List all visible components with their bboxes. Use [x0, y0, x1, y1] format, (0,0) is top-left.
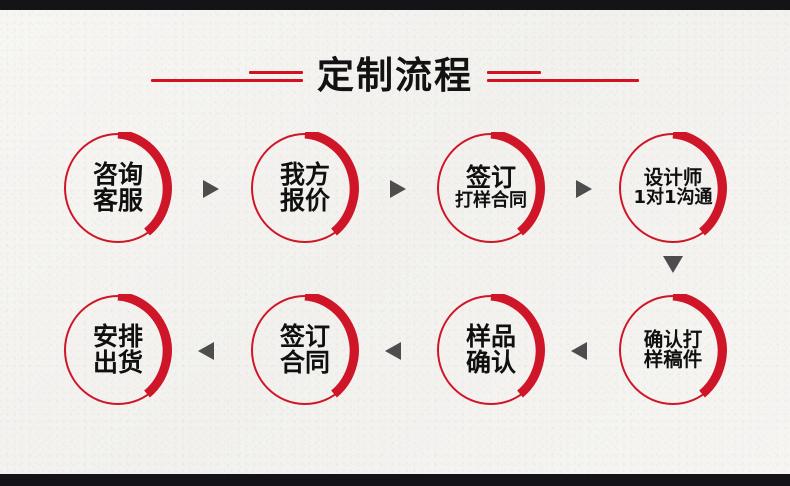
label-line-2: 出货: [93, 350, 143, 376]
label-line-1: 咨询: [93, 162, 143, 188]
flow-node-label: 我方 报价: [280, 162, 330, 215]
flow-row-bottom: 安排 出货 签订 合同 样品 确认: [0, 295, 790, 413]
label-line-1: 安排: [93, 324, 143, 350]
label-line-2: 确认: [466, 350, 516, 376]
poster-canvas: 定制流程 咨询 客服 我方 报价: [0, 0, 790, 486]
label-line-1: 确认打: [644, 330, 703, 350]
arrow-right-icon-2: [390, 180, 406, 198]
arrow-left-icon-1: [198, 342, 214, 360]
flow-node-step-8[interactable]: 安排 出货: [64, 295, 172, 405]
arrow-right-icon-3: [576, 180, 592, 198]
arrow-left-icon-3: [571, 342, 587, 360]
flow-node-label: 安排 出货: [93, 324, 143, 377]
label-line-2: 1对1沟通: [633, 189, 712, 208]
flow-node-step-3[interactable]: 签订 打样合同: [437, 133, 545, 243]
page-title: 定制流程: [317, 57, 473, 94]
label-line-2: 客服: [93, 188, 143, 214]
label-line-1: 设计师: [633, 168, 712, 188]
label-line-2: 合同: [280, 350, 330, 376]
flow-node-label: 签订 合同: [280, 324, 330, 377]
flow-node-step-5[interactable]: 确认打 样稿件: [619, 295, 727, 405]
top-edge-band: [0, 0, 790, 10]
flow-node-label: 设计师 1对1沟通: [633, 168, 712, 207]
flow-node-label: 确认打 样稿件: [644, 330, 703, 371]
arrow-right-icon-1: [203, 180, 219, 198]
label-line-2: 样稿件: [644, 350, 703, 370]
label-line-1: 我方: [280, 162, 330, 188]
title-rule-left-icon: [151, 62, 303, 88]
flow-node-step-1[interactable]: 咨询 客服: [64, 133, 172, 243]
flow-node-label: 签订 打样合同: [455, 165, 527, 210]
arrow-down-icon: [663, 256, 683, 273]
section-header: 定制流程: [0, 44, 790, 106]
label-line-2: 报价: [280, 188, 330, 214]
label-line-1: 样品: [466, 324, 516, 350]
flow-node-step-4[interactable]: 设计师 1对1沟通: [619, 133, 727, 243]
flow-row-top: 咨询 客服 我方 报价 签订 打样合同: [0, 133, 790, 251]
flow-node-step-2[interactable]: 我方 报价: [251, 133, 359, 243]
flow-node-step-7[interactable]: 签订 合同: [251, 295, 359, 405]
arrow-left-icon-2: [385, 342, 401, 360]
title-rule-right-icon: [487, 62, 639, 88]
label-line-1: 签订: [455, 165, 527, 191]
flow-node-label: 咨询 客服: [93, 162, 143, 215]
flow-node-step-6[interactable]: 样品 确认: [437, 295, 545, 405]
label-line-2: 打样合同: [455, 192, 527, 211]
bottom-edge-band: [0, 474, 790, 486]
label-line-1: 签订: [280, 324, 330, 350]
flow-node-label: 样品 确认: [466, 324, 516, 377]
